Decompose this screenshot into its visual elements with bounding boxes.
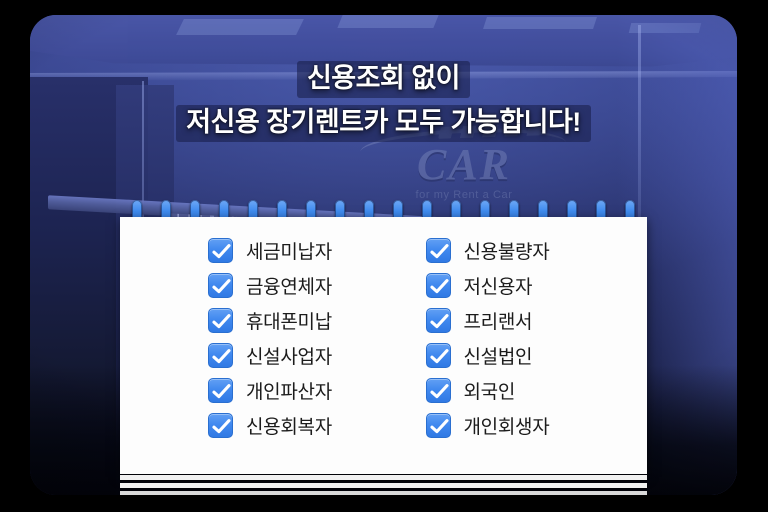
ceiling-panel — [337, 15, 438, 28]
checklist-item-label: 외국인 — [464, 377, 516, 404]
checklist-item[interactable]: 세금미납자 — [120, 233, 384, 268]
checklist-item[interactable]: 개인파산자 — [120, 373, 384, 408]
checkbox-checked-icon[interactable] — [426, 308, 451, 333]
checkbox-checked-icon[interactable] — [426, 238, 451, 263]
checklist-item[interactable]: 휴대폰미납 — [120, 303, 384, 338]
headline: 신용조회 없이 저신용 장기렌트카 모두 가능합니다! — [30, 61, 737, 142]
notepad-sheet-edge — [120, 475, 647, 480]
headline-row-2: 저신용 장기렌트카 모두 가능합니다! — [30, 98, 737, 142]
headline-line-2: 저신용 장기렌트카 모두 가능합니다! — [176, 105, 591, 142]
screenshot-canvas: CAR for my Rent a Car 신용조회 없이 저신용 장기렌트카 … — [0, 0, 768, 512]
checklist-item[interactable]: 저신용자 — [384, 268, 648, 303]
checklist-item[interactable]: 신설사업자 — [120, 338, 384, 373]
promo-banner: CAR for my Rent a Car 신용조회 없이 저신용 장기렌트카 … — [30, 15, 737, 495]
checklist-item[interactable]: 개인회생자 — [384, 408, 648, 443]
checkbox-checked-icon[interactable] — [208, 273, 233, 298]
checkbox-checked-icon[interactable] — [208, 413, 233, 438]
checkbox-checked-icon[interactable] — [208, 238, 233, 263]
checklist-item[interactable]: 프리랜서 — [384, 303, 648, 338]
checklist-item[interactable]: 신용불량자 — [384, 233, 648, 268]
checklist-item-label: 저신용자 — [464, 272, 533, 299]
checkbox-checked-icon[interactable] — [208, 343, 233, 368]
checklist-item-label: 개인파산자 — [246, 377, 332, 404]
checklist-item-label: 금융연체자 — [246, 272, 332, 299]
checkbox-checked-icon[interactable] — [426, 413, 451, 438]
checklist-item[interactable]: 신설법인 — [384, 338, 648, 373]
checklist-item-label: 신용불량자 — [464, 237, 550, 264]
checklist: 세금미납자금융연체자휴대폰미납신설사업자개인파산자신용회복자 신용불량자저신용자… — [120, 217, 647, 474]
checklist-item-label: 신설사업자 — [246, 342, 332, 369]
ceiling-panel — [483, 17, 597, 29]
checklist-item-label: 세금미납자 — [246, 237, 332, 264]
headline-line-1: 신용조회 없이 — [297, 61, 470, 98]
notepad: 세금미납자금융연체자휴대폰미납신설사업자개인파산자신용회복자 신용불량자저신용자… — [120, 200, 647, 495]
headline-row-1: 신용조회 없이 — [30, 61, 737, 98]
checkbox-checked-icon[interactable] — [208, 378, 233, 403]
checklist-item-label: 신용회복자 — [246, 412, 332, 439]
checklist-item-label: 신설법인 — [464, 342, 533, 369]
checklist-item-label: 프리랜서 — [464, 307, 533, 334]
notepad-sheet-edge — [120, 491, 647, 495]
checkbox-checked-icon[interactable] — [426, 273, 451, 298]
checklist-item[interactable]: 신용회복자 — [120, 408, 384, 443]
checkbox-checked-icon[interactable] — [426, 343, 451, 368]
notepad-sheet-edge — [120, 483, 647, 488]
checkbox-checked-icon[interactable] — [426, 378, 451, 403]
checklist-left-column: 세금미납자금융연체자휴대폰미납신설사업자개인파산자신용회복자 — [120, 233, 384, 474]
checklist-item-label: 휴대폰미납 — [246, 307, 332, 334]
ceiling-panel — [176, 19, 304, 35]
checklist-item[interactable]: 외국인 — [384, 373, 648, 408]
checklist-right-column: 신용불량자저신용자프리랜서신설법인외국인개인회생자 — [384, 233, 648, 474]
checkbox-checked-icon[interactable] — [208, 308, 233, 333]
checklist-item-label: 개인회생자 — [464, 412, 550, 439]
checklist-item[interactable]: 금융연체자 — [120, 268, 384, 303]
